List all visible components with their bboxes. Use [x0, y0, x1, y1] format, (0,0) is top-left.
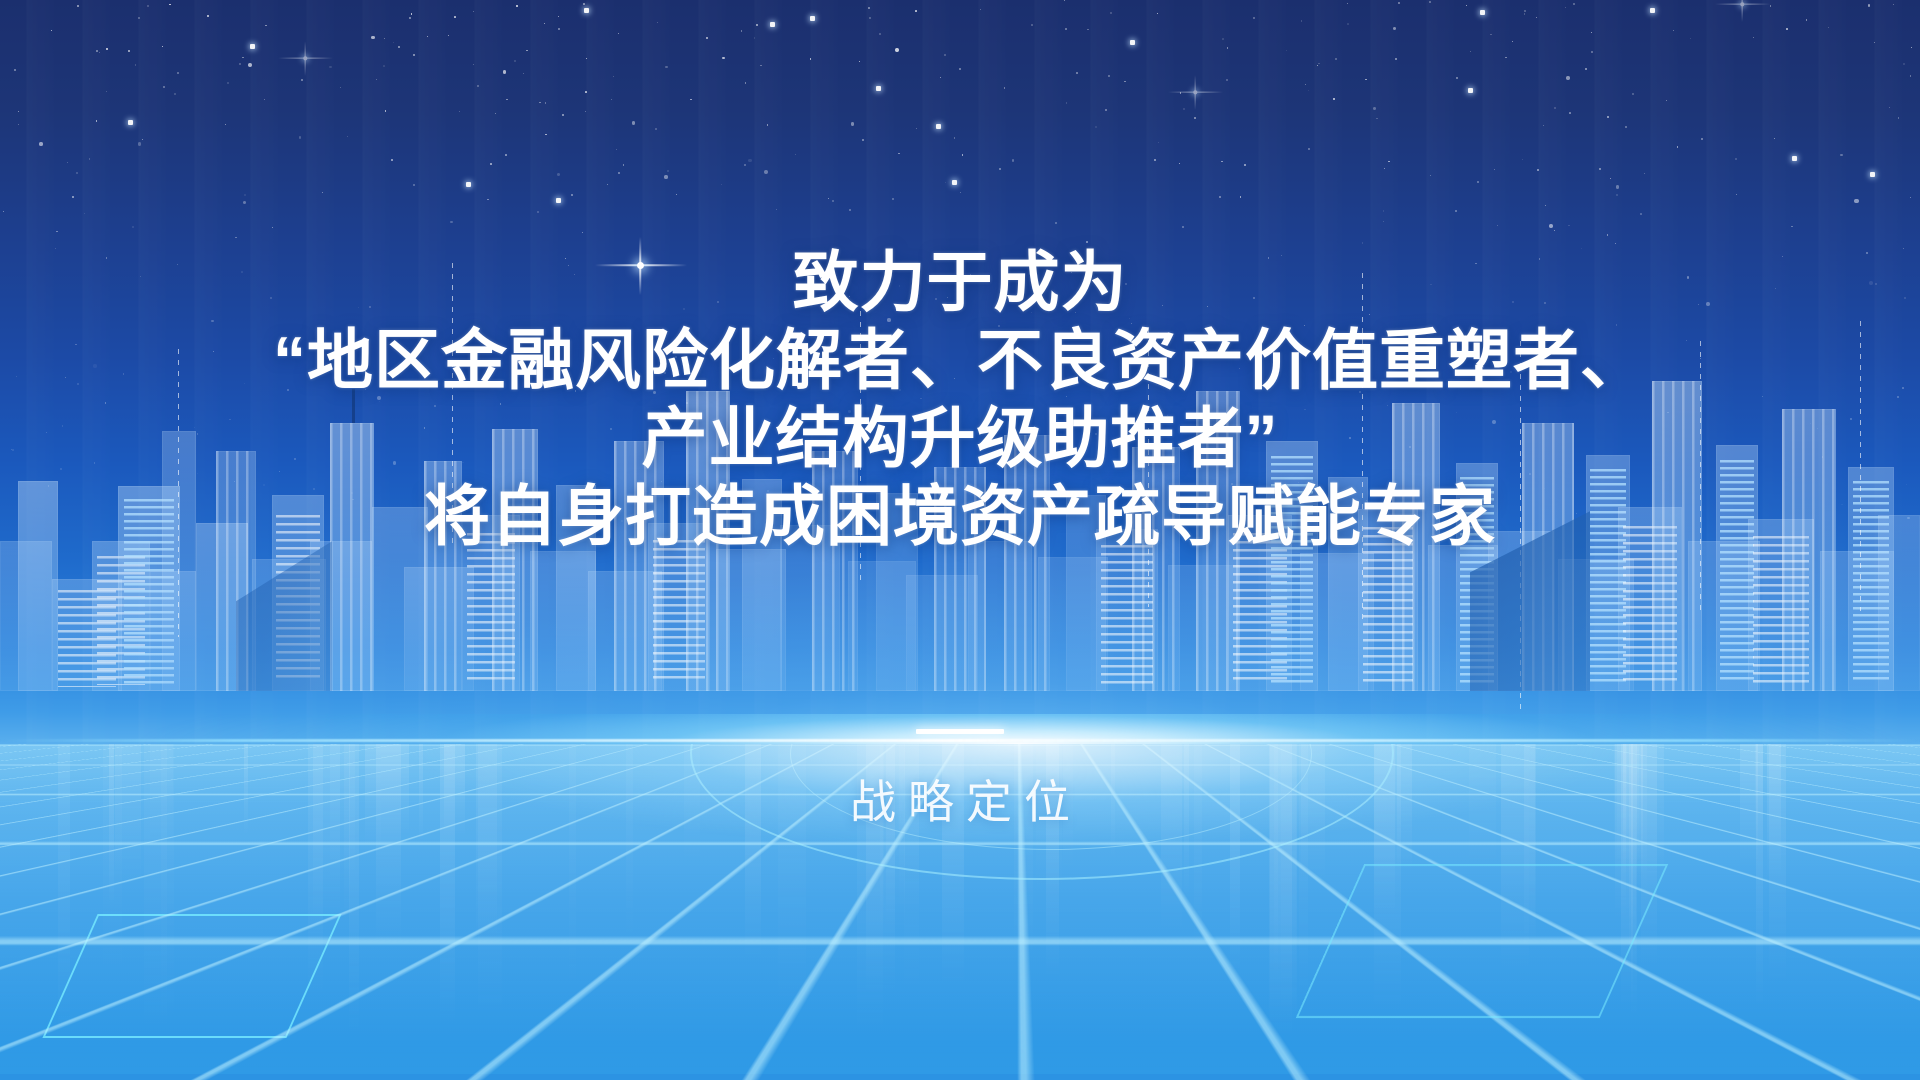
title-block: 致力于成为 “地区金融风险化解者、不良资产价值重塑者、 产业结构升级助推者” 将… [0, 244, 1920, 556]
title-line-1: 致力于成为 [0, 244, 1920, 322]
title-line-2: “地区金融风险化解者、不良资产价值重塑者、 [0, 322, 1920, 400]
title-line-4: 将自身打造成困境资产疏导赋能专家 [0, 478, 1920, 556]
horizon-line [0, 739, 1920, 742]
title-line-3: 产业结构升级助推者” [0, 400, 1920, 478]
slide-canvas: 致力于成为 “地区金融风险化解者、不良资产价值重塑者、 产业结构升级助推者” 将… [0, 0, 1920, 1080]
divider-rule [916, 729, 1004, 734]
subtitle: 战略定位 [0, 766, 1920, 832]
building [150, 571, 196, 691]
